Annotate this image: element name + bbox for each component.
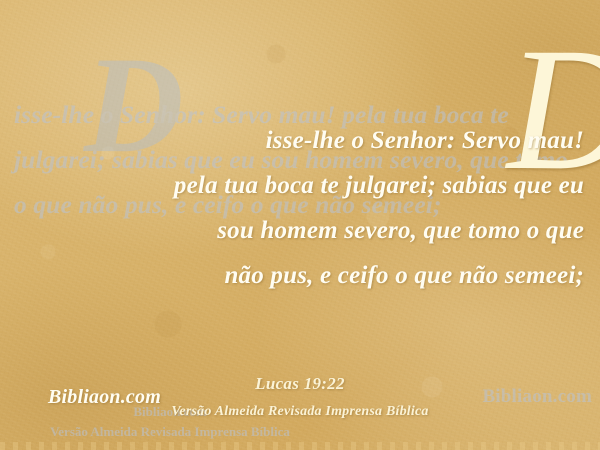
verse-line: não pus, e ceifo o que não semeei; (8, 253, 584, 298)
main-text-layer: D isse-lhe o Senhor: Servo mau! pela tua… (0, 0, 600, 450)
verse-line: isse-lhe o Senhor: Servo mau! (8, 118, 584, 163)
brand-watermark[interactable]: Bibliaon.com (48, 386, 161, 409)
verse-line: pela tua boca te julgarei; sabias que eu (8, 163, 584, 208)
verse-text: isse-lhe o Senhor: Servo mau! pela tua b… (8, 118, 584, 298)
verse-image-card: D isse-lhe o Senhor: Servo mau! pela tua… (0, 0, 600, 450)
verse-line: sou homem severo, que tomo o que (8, 208, 584, 253)
